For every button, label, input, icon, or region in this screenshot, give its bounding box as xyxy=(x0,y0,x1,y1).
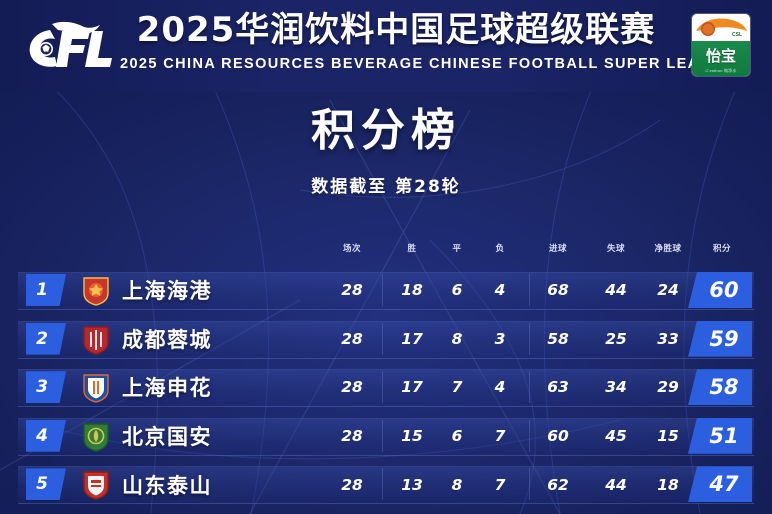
points-badge: 59 xyxy=(688,321,752,357)
table-row[interactable]: 2成都蓉城28178358253359 xyxy=(0,315,772,364)
points-value: 51 xyxy=(696,424,752,448)
points-badge: 60 xyxy=(688,272,752,308)
stat-goal-diff: 33 xyxy=(657,330,679,348)
stat-goals-against: 44 xyxy=(605,281,627,299)
rank-value: 2 xyxy=(26,329,58,349)
banner-title-cn: 2025华润饮料中国足球超级联赛 xyxy=(120,8,672,52)
table-row[interactable]: 4北京国安28156760451551 xyxy=(0,412,772,461)
team-name: 成都蓉城 xyxy=(122,324,212,354)
stat-goals-against: 25 xyxy=(605,330,627,348)
points-value: 59 xyxy=(696,327,752,351)
stat-goals-against: 44 xyxy=(605,476,627,494)
table-header-row: 场次胜平负进球失球净胜球积分 xyxy=(0,238,772,264)
stat-drawn: 6 xyxy=(452,427,463,445)
stat-goal-diff: 24 xyxy=(657,281,679,299)
league-banner: 2025华润饮料中国足球超级联赛 2025 CHINA RESOURCES BE… xyxy=(0,0,772,92)
stat-goals-against: 45 xyxy=(605,427,627,445)
column-divider xyxy=(382,323,383,355)
column-divider xyxy=(529,323,530,355)
stat-won: 17 xyxy=(401,330,423,348)
stat-won: 15 xyxy=(401,427,423,445)
points-value: 60 xyxy=(696,278,752,302)
chengdu-rongcheng-crest-icon xyxy=(82,325,110,355)
points-value: 47 xyxy=(696,472,752,496)
rank-value: 4 xyxy=(26,426,58,446)
stat-lost: 4 xyxy=(495,281,506,299)
rank-badge: 3 xyxy=(26,371,66,403)
stat-goals-against: 34 xyxy=(605,378,627,396)
team-name: 北京国安 xyxy=(122,421,212,451)
column-header: 胜 xyxy=(407,242,416,254)
table-row[interactable]: 3上海申花28177463342958 xyxy=(0,363,772,412)
standings-table: 场次胜平负进球失球净胜球积分 1上海海港281864684424602成都蓉城2… xyxy=(0,238,772,509)
column-divider xyxy=(382,274,383,306)
column-header: 积分 xyxy=(713,242,731,254)
stat-drawn: 8 xyxy=(452,476,463,494)
stat-played: 28 xyxy=(341,281,363,299)
column-header: 平 xyxy=(452,242,461,254)
column-divider xyxy=(529,274,530,306)
points-badge: 51 xyxy=(688,418,752,454)
stat-lost: 7 xyxy=(495,427,506,445)
column-divider xyxy=(382,371,383,403)
column-header: 场次 xyxy=(343,242,361,254)
column-header: 失球 xyxy=(607,242,625,254)
column-divider xyxy=(382,468,383,500)
rank-badge: 1 xyxy=(26,274,66,306)
rank-value: 1 xyxy=(26,280,58,300)
beijing-guoan-crest-icon xyxy=(82,422,110,452)
standings-graphic: 2025华润饮料中国足球超级联赛 2025 CHINA RESOURCES BE… xyxy=(0,0,772,514)
table-row[interactable]: 5山东泰山28138762441847 xyxy=(0,460,772,509)
stat-drawn: 6 xyxy=(452,281,463,299)
sponsor-name-sub: C'estbon 纯净水 xyxy=(692,68,750,74)
column-divider xyxy=(529,420,530,452)
stat-goals-for: 62 xyxy=(547,476,569,494)
column-header: 负 xyxy=(495,242,504,254)
column-header: 净胜球 xyxy=(654,242,681,254)
csl-sponsor-badge-icon: CSL 怡宝 C'estbon 纯净水 xyxy=(692,14,750,76)
rank-badge: 4 xyxy=(26,420,66,452)
stat-drawn: 7 xyxy=(452,378,463,396)
shanghai-shenhua-crest-icon xyxy=(82,373,110,403)
stat-goal-diff: 29 xyxy=(657,378,679,396)
points-value: 58 xyxy=(696,375,752,399)
svg-text:CSL: CSL xyxy=(732,32,742,38)
sponsor-name-cn: 怡宝 xyxy=(692,45,750,66)
stat-lost: 7 xyxy=(495,476,506,494)
table-row[interactable]: 1上海海港28186468442460 xyxy=(0,266,772,315)
points-badge: 58 xyxy=(688,369,752,405)
sponsor-bottom-mark: 怡宝 C'estbon 纯净水 xyxy=(692,41,750,76)
team-name: 上海海港 xyxy=(122,275,212,305)
stat-played: 28 xyxy=(341,378,363,396)
stat-lost: 4 xyxy=(495,378,506,396)
stat-played: 28 xyxy=(341,330,363,348)
title-block: 积分榜 数据截至 第28轮 xyxy=(0,104,772,197)
stat-won: 17 xyxy=(401,378,423,396)
column-divider xyxy=(382,420,383,452)
team-name: 山东泰山 xyxy=(122,470,212,500)
page-subtitle: 数据截至 第28轮 xyxy=(0,172,772,197)
banner-title-en: 2025 CHINA RESOURCES BEVERAGE CHINESE FO… xyxy=(120,56,672,72)
banner-titles: 2025华润饮料中国足球超级联赛 2025 CHINA RESOURCES BE… xyxy=(120,8,672,72)
sponsor-top-mark: CSL xyxy=(692,14,750,41)
column-header: 进球 xyxy=(549,242,567,254)
stat-drawn: 8 xyxy=(452,330,463,348)
stat-lost: 3 xyxy=(495,330,506,348)
stat-goals-for: 58 xyxy=(547,330,569,348)
rank-badge: 5 xyxy=(26,468,66,500)
stat-goal-diff: 18 xyxy=(657,476,679,494)
rank-value: 5 xyxy=(26,474,58,494)
stat-played: 28 xyxy=(341,427,363,445)
shandong-taishan-crest-icon xyxy=(82,470,110,500)
stat-won: 18 xyxy=(401,281,423,299)
stat-goals-for: 68 xyxy=(547,281,569,299)
table-body: 1上海海港281864684424602成都蓉城281783582533593上… xyxy=(0,266,772,509)
cfl-dragon-logo-icon xyxy=(22,16,114,74)
points-badge: 47 xyxy=(688,466,752,502)
stat-goal-diff: 15 xyxy=(657,427,679,445)
shanghai-port-crest-icon xyxy=(82,276,110,306)
column-divider xyxy=(529,371,530,403)
column-divider xyxy=(529,468,530,500)
stat-goals-for: 63 xyxy=(547,378,569,396)
rank-badge: 2 xyxy=(26,323,66,355)
team-name: 上海申花 xyxy=(122,372,212,402)
rank-value: 3 xyxy=(26,377,58,397)
stat-goals-for: 60 xyxy=(547,427,569,445)
stat-played: 28 xyxy=(341,476,363,494)
page-title: 积分榜 xyxy=(0,104,772,158)
stat-won: 13 xyxy=(401,476,423,494)
